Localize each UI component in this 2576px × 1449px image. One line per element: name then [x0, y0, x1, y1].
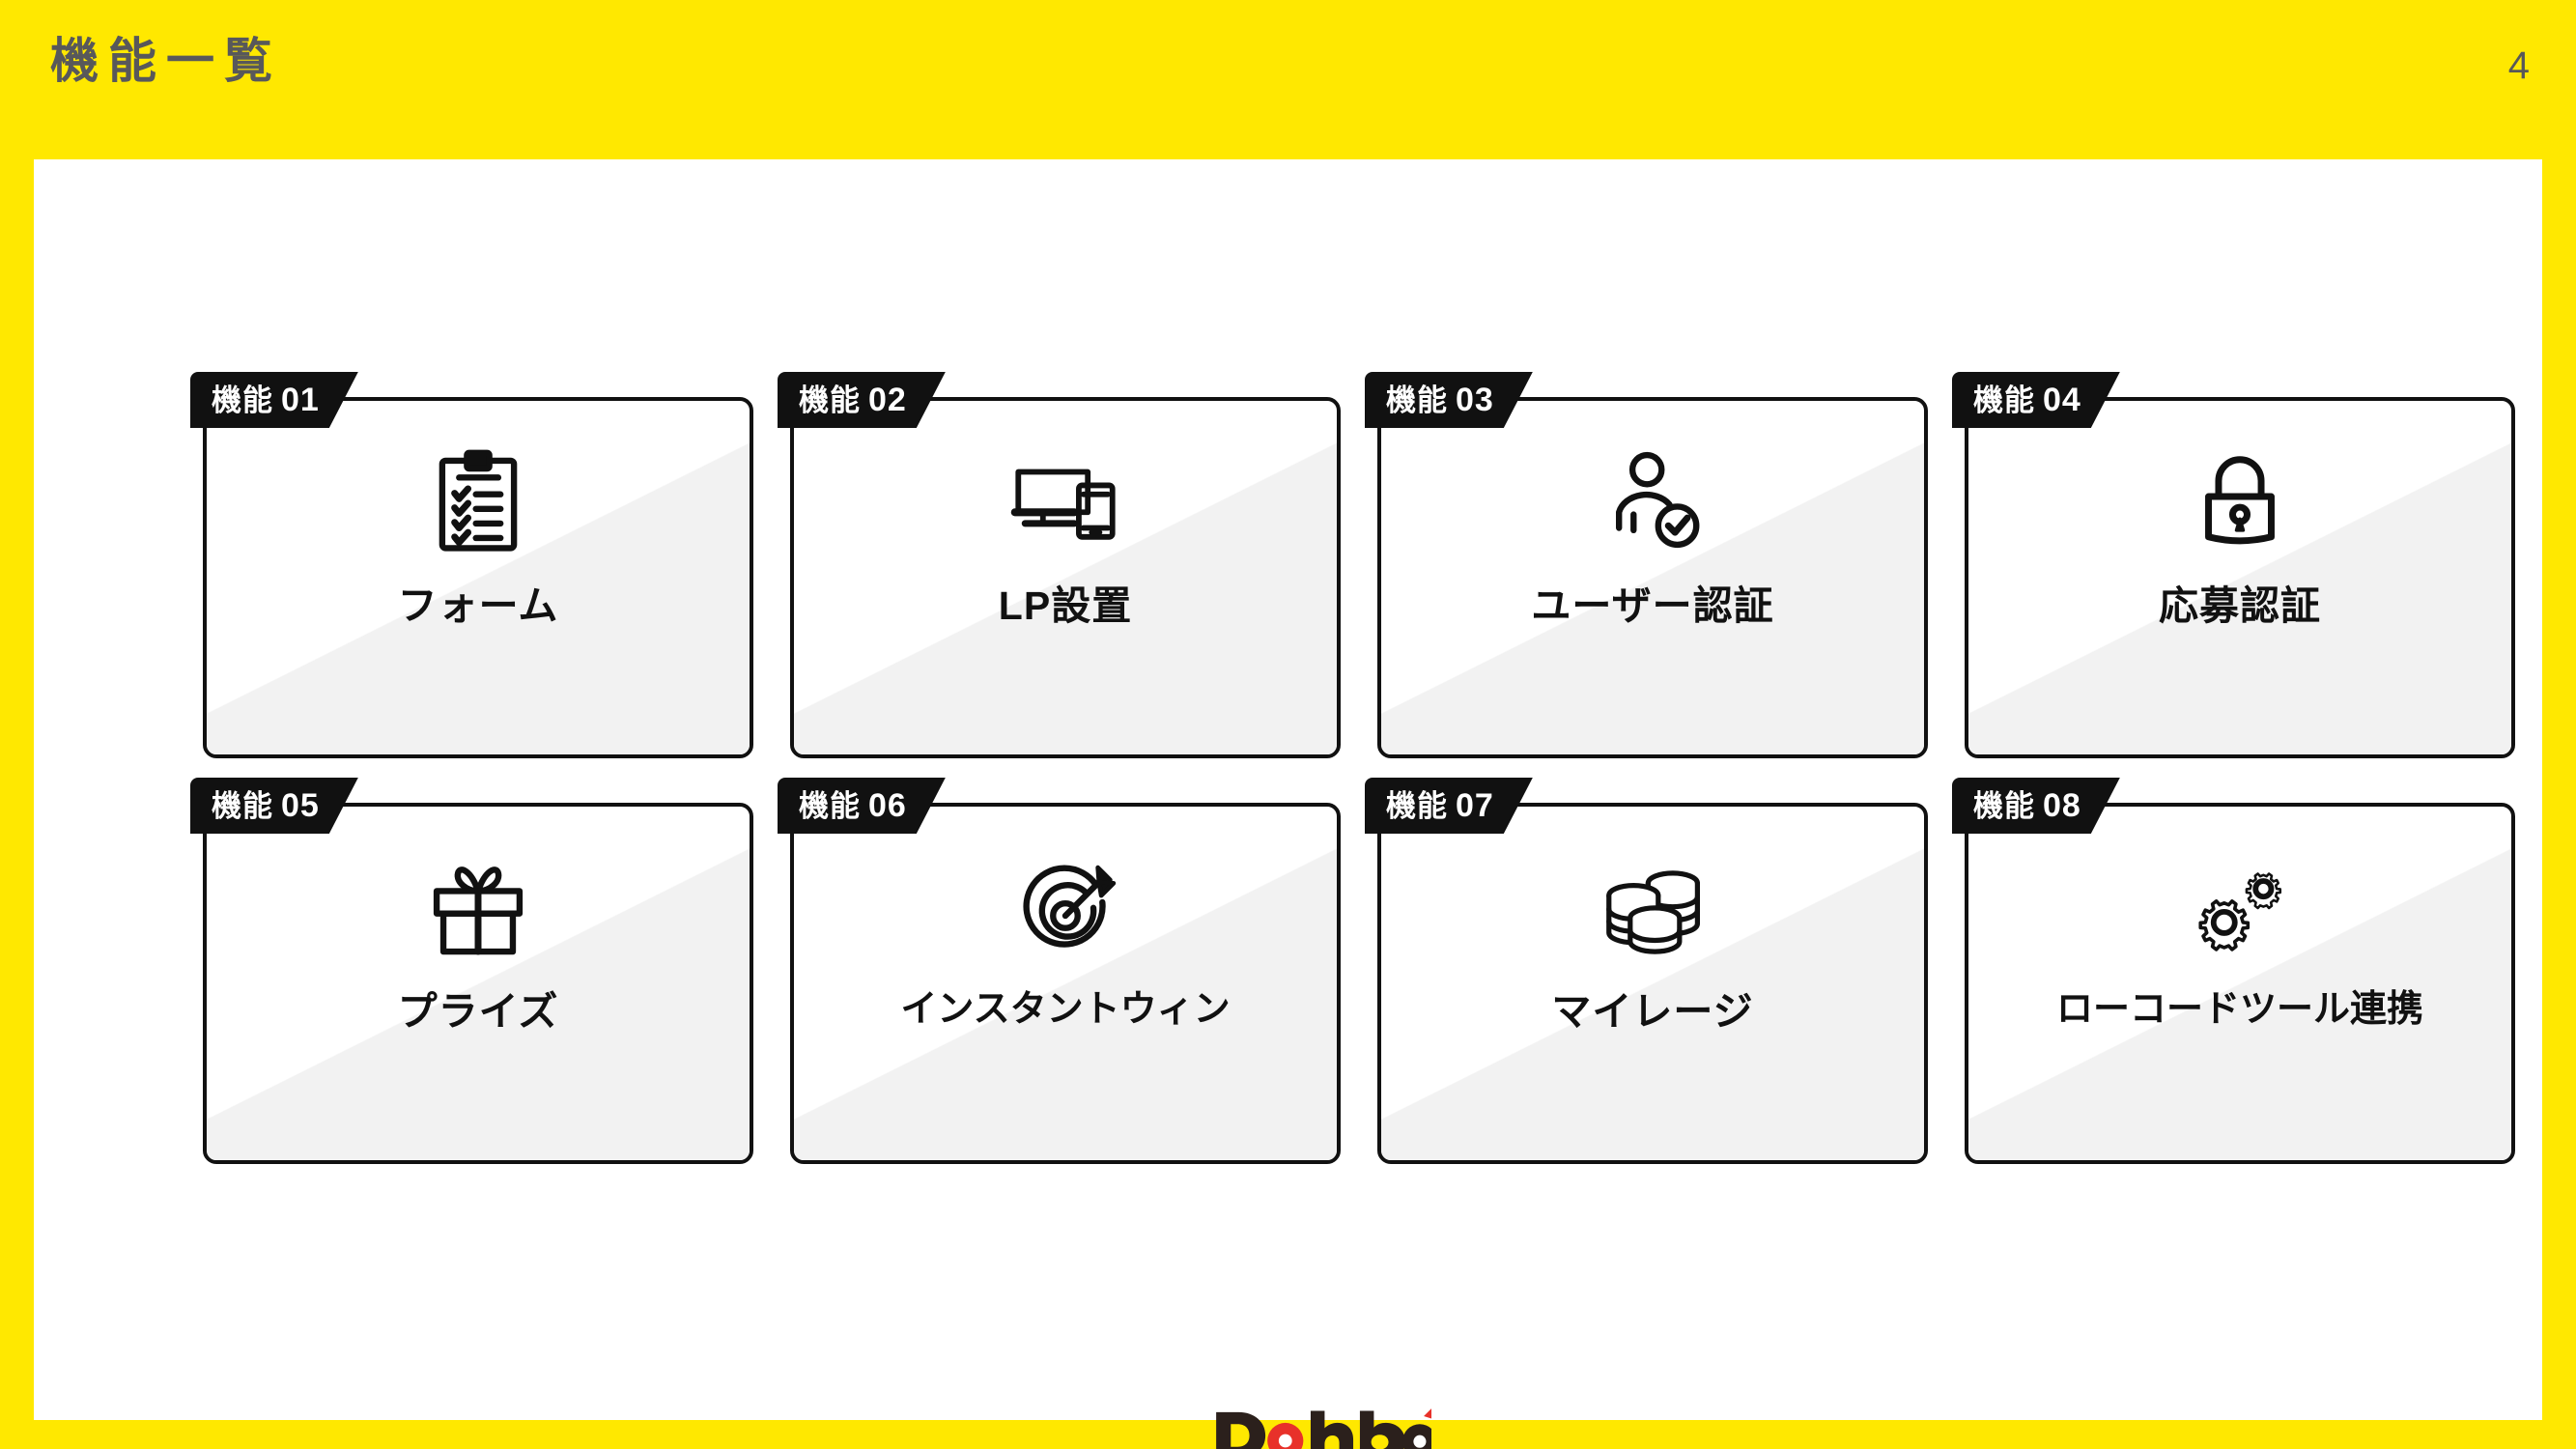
page-number: 4	[2508, 46, 2530, 85]
card-ribbon: 機能 02	[778, 372, 946, 428]
card-inner: 応募認証	[1968, 401, 2511, 754]
footer-block: powered by DM KOKOKUSHA.	[34, 1406, 2576, 1449]
card-ribbon: 機能 05	[190, 778, 358, 834]
card-label: ユーザー認証	[1531, 584, 1773, 628]
content-panel: フォーム 機能 01	[34, 159, 2542, 1420]
card-body: フォーム	[203, 397, 753, 758]
ribbon-number: 02	[868, 384, 907, 416]
card-ribbon: 機能 04	[1952, 372, 2120, 428]
ribbon-prefix: 機能	[1973, 385, 2035, 415]
ribbon-number: 08	[2043, 789, 2081, 822]
padlock-icon	[2184, 447, 2296, 559]
ribbon-prefix: 機能	[799, 385, 861, 415]
target-dart-icon	[1009, 853, 1121, 965]
card-label: プライズ	[398, 990, 559, 1034]
card-ribbon: 機能 08	[1952, 778, 2120, 834]
card-ribbon: 機能 06	[778, 778, 946, 834]
slide-header: 機能一覧 4	[0, 0, 2576, 159]
card-inner: フォーム	[207, 401, 750, 754]
ribbon-number: 01	[281, 384, 320, 416]
card-label: フォーム	[398, 584, 559, 628]
ribbon-prefix: 機能	[212, 791, 273, 821]
clipboard-checklist-icon	[422, 447, 534, 559]
feature-card-06[interactable]: インスタントウィン 機能 06	[790, 778, 1341, 1164]
coin-stack-icon	[1597, 853, 1709, 965]
feature-card-grid: フォーム 機能 01	[203, 372, 2424, 1164]
card-body: ローコードツール連携	[1965, 803, 2515, 1164]
feature-card-07[interactable]: マイレージ 機能 07	[1377, 778, 1928, 1164]
user-verified-icon	[1597, 447, 1709, 559]
card-inner: プライズ	[207, 807, 750, 1160]
card-label: マイレージ	[1551, 990, 1753, 1034]
feature-card-04[interactable]: 応募認証 機能 04	[1965, 372, 2515, 758]
card-inner: ローコードツール連携	[1968, 807, 2511, 1160]
ribbon-number: 04	[2043, 384, 2081, 416]
ribbon-prefix: 機能	[212, 385, 273, 415]
card-ribbon: 機能 01	[190, 372, 358, 428]
card-label: LP設置	[999, 584, 1132, 628]
card-inner: ユーザー認証	[1381, 401, 1924, 754]
ribbon-prefix: 機能	[1386, 791, 1448, 821]
card-label: インスタントウィン	[900, 990, 1230, 1031]
card-body: プライズ	[203, 803, 753, 1164]
card-body: ユーザー認証	[1377, 397, 1928, 758]
card-label: ローコードツール連携	[2056, 990, 2423, 1031]
ribbon-number: 05	[281, 789, 320, 822]
monitor-smartphone-icon	[1009, 447, 1121, 559]
card-label: 応募認証	[2159, 584, 2321, 628]
ribbon-number: 06	[868, 789, 907, 822]
card-inner: マイレージ	[1381, 807, 1924, 1160]
feature-card-02[interactable]: LP設置 機能 02	[790, 372, 1341, 758]
card-body: LP設置	[790, 397, 1341, 758]
card-body: マイレージ	[1377, 803, 1928, 1164]
ribbon-prefix: 機能	[799, 791, 861, 821]
feature-card-03[interactable]: ユーザー認証 機能 03	[1377, 372, 1928, 758]
dohbo-logo	[1212, 1406, 1431, 1449]
ribbon-number: 03	[1456, 384, 1494, 416]
card-ribbon: 機能 03	[1365, 372, 1533, 428]
ribbon-prefix: 機能	[1386, 385, 1448, 415]
feature-card-05[interactable]: プライズ 機能 05	[203, 778, 753, 1164]
ribbon-number: 07	[1456, 789, 1494, 822]
page-title: 機能一覧	[50, 37, 282, 85]
gift-box-icon	[422, 853, 534, 965]
card-body: インスタントウィン	[790, 803, 1341, 1164]
feature-card-08[interactable]: ローコードツール連携 機能 08	[1965, 778, 2515, 1164]
feature-card-01[interactable]: フォーム 機能 01	[203, 372, 753, 758]
card-inner: インスタントウィン	[794, 807, 1337, 1160]
gears-icon	[2184, 853, 2296, 965]
card-inner: LP設置	[794, 401, 1337, 754]
card-body: 応募認証	[1965, 397, 2515, 758]
ribbon-prefix: 機能	[1973, 791, 2035, 821]
card-ribbon: 機能 07	[1365, 778, 1533, 834]
